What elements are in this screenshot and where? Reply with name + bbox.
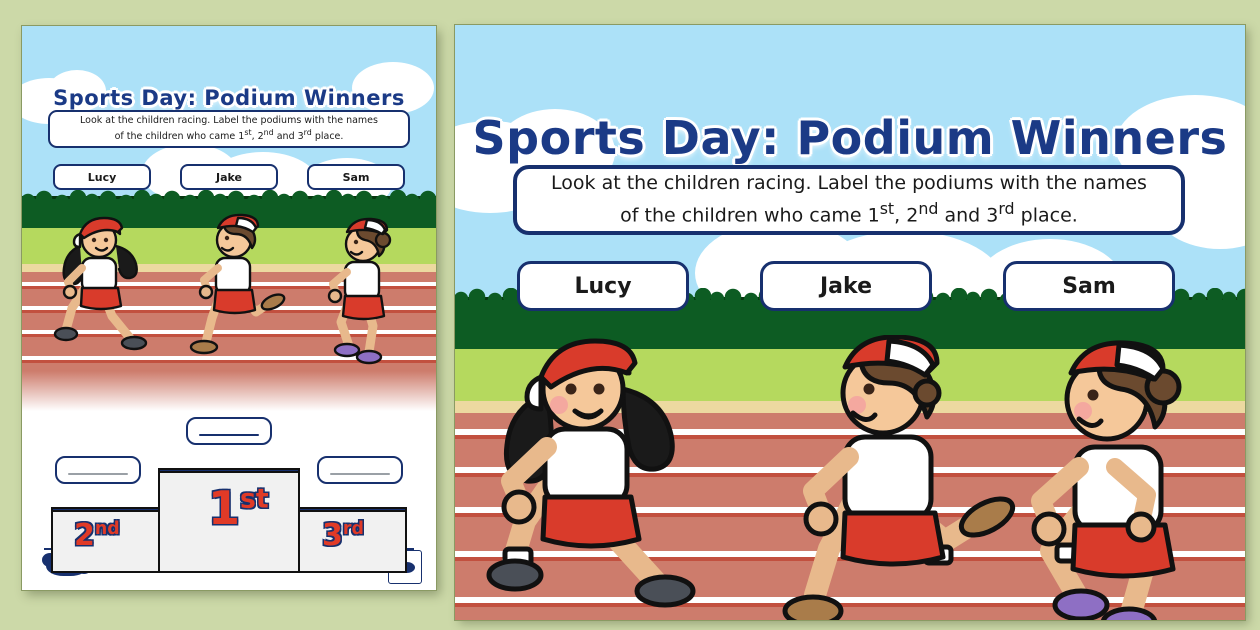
ordinal-nd: nd xyxy=(264,128,274,137)
podium-cap xyxy=(292,507,407,512)
ordinal-st: st xyxy=(880,199,894,218)
answer-box-third[interactable] xyxy=(317,456,403,484)
writing-line xyxy=(330,473,389,475)
treetops xyxy=(22,190,436,204)
left-page-scene xyxy=(22,26,436,411)
instruction-line-2c: and 3 xyxy=(274,132,304,143)
instruction-line-2b: , 2 xyxy=(894,204,918,226)
instruction-line-2d: place. xyxy=(312,132,344,143)
ordinal-rd: rd xyxy=(998,199,1014,218)
screenshot-stage: Sports Day: Podium Winners Look at the c… xyxy=(0,0,1260,630)
page-title: Sports Day: Podium Winners xyxy=(22,86,436,110)
instruction-box: Look at the children racing. Label the p… xyxy=(513,165,1185,235)
name-option-sam[interactable]: Sam xyxy=(1003,261,1175,311)
podium-area: 1st 2nd 3rd xyxy=(22,411,436,590)
page-title: Sports Day: Podium Winners xyxy=(455,111,1245,165)
writing-line xyxy=(68,473,127,475)
runner-figure-2 xyxy=(765,335,1025,620)
name-option-lucy[interactable]: Lucy xyxy=(517,261,689,311)
podium-cap xyxy=(51,507,166,512)
name-option-lucy[interactable]: Lucy xyxy=(53,164,151,190)
answer-box-first[interactable] xyxy=(186,417,272,445)
resource-preview-large[interactable]: Sports Day: Podium Winners Look at the c… xyxy=(455,25,1245,620)
instruction-line-2c: and 3 xyxy=(938,204,998,226)
name-option-sam[interactable]: Sam xyxy=(307,164,405,190)
instruction-line-2a: of the children who came 1 xyxy=(620,204,880,226)
ordinal-nd: nd xyxy=(918,199,938,218)
answer-box-second[interactable] xyxy=(55,456,141,484)
instruction-line-2d: place. xyxy=(1015,204,1078,226)
worksheet-page-preview[interactable]: Sports Day: Podium Winners Look at the c… xyxy=(22,26,436,590)
name-option-jake[interactable]: Jake xyxy=(760,261,932,311)
ordinal-st: st xyxy=(244,128,251,137)
podium-rank-second: 2nd xyxy=(74,521,120,551)
writing-line xyxy=(199,434,258,436)
podium-rank-first: 1st xyxy=(208,485,269,531)
name-option-jake[interactable]: Jake xyxy=(180,164,278,190)
runner-figure-1 xyxy=(475,335,735,620)
podium-rank-third: 3rd xyxy=(322,521,364,551)
runner-figure-3 xyxy=(307,210,427,402)
instruction-line-2a: of the children who came 1 xyxy=(115,132,245,143)
ordinal-rd: rd xyxy=(304,128,312,137)
instruction-line-2b: , 2 xyxy=(252,132,264,143)
podium-cap xyxy=(158,468,300,473)
runner-figure-3 xyxy=(995,337,1245,620)
instruction-line-1: Look at the children racing. Label the p… xyxy=(551,172,1147,194)
instruction-box: Look at the children racing. Label the p… xyxy=(48,110,410,148)
runner-figure-1 xyxy=(50,212,170,392)
runner-figure-2 xyxy=(180,208,300,396)
instruction-line-1: Look at the children racing. Label the p… xyxy=(80,115,378,126)
